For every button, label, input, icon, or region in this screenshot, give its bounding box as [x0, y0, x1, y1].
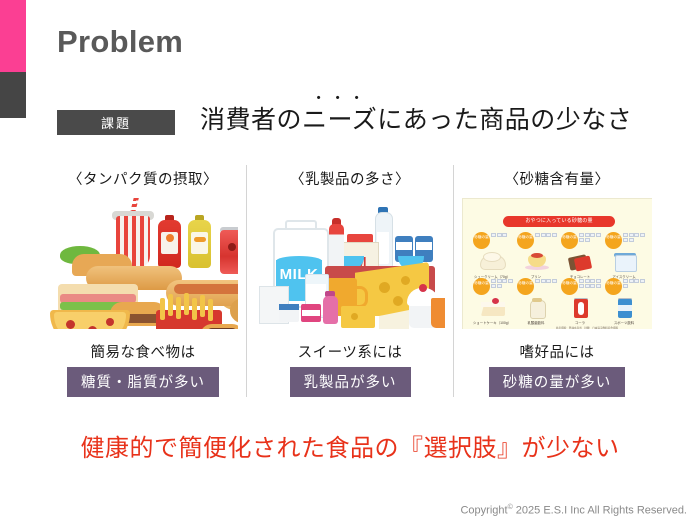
- dairy-illustration: M MILK: [255, 198, 445, 329]
- poster-item: 砂糖の量 ショートケーキ（100g）: [470, 278, 514, 324]
- caption-badge: 乳製品が多い: [290, 367, 411, 397]
- food-icon-shortcake: [478, 297, 506, 319]
- footer-prefix: Copyright: [460, 505, 507, 517]
- column-header: 〈乳製品の多さ〉: [290, 168, 410, 189]
- subtitle-suffix: にあった商品の少なさ: [377, 106, 632, 134]
- item-label: スポーツ飲料: [602, 321, 646, 325]
- sugar-amount-badge: 砂糖の量: [517, 278, 534, 295]
- sugar-amount-badge: 砂糖の量: [605, 232, 622, 249]
- sugar-cubes: [491, 279, 513, 294]
- sugar-cubes: [623, 279, 645, 294]
- poster-item: 砂糖の量 アイスクリーム: [602, 232, 646, 278]
- column-sugar: 〈砂糖含有量〉 おやつに入っている砂糖の量 砂糖の量 シュークリーム（70g）: [454, 162, 660, 397]
- column-header: 〈タンパク質の摂取〉: [68, 168, 218, 189]
- sugar-amount-badge: 砂糖の量: [561, 278, 578, 295]
- conclusion-statement: 健康的で簡便化された食品の『選択肢』が少ない: [0, 428, 700, 463]
- poster-item-grid: 砂糖の量 シュークリーム（70g） 砂糖の量: [470, 232, 646, 324]
- poster-item: 砂糖の量 スポーツ飲料: [602, 278, 646, 324]
- fast-food-illustration: [48, 198, 238, 329]
- food-icon-cream-puff: [478, 251, 506, 273]
- accent-bar-pink: [0, 0, 26, 72]
- subtitle-row: 課題 消費者のニーズにあった商品の少なさ: [57, 100, 632, 136]
- caption-line: 簡易な食べ物は: [91, 341, 196, 362]
- sugar-cubes: [535, 233, 557, 248]
- item-label: 乳酸菌飲料: [514, 321, 558, 325]
- sugar-amount-badge: 砂糖の量: [561, 232, 578, 249]
- food-icon-ice-cream: [610, 251, 638, 273]
- subtitle-emphasis: ニーズ: [302, 106, 377, 134]
- sugar-cubes: [535, 279, 557, 294]
- copyright-footer: Copyright© 2025 E.S.I Inc All Rights Res…: [460, 504, 687, 517]
- sugar-amount-badge: 砂糖の量: [473, 278, 490, 295]
- tag-badge: 課題: [57, 110, 175, 135]
- poster-item: 砂糖の量 シュークリーム（70g）: [470, 232, 514, 278]
- accent-bar-gray: [0, 72, 26, 118]
- column-protein: 〈タンパク質の摂取〉: [40, 162, 246, 397]
- column-dairy: 〈乳製品の多さ〉 M MILK: [247, 162, 453, 397]
- poster-item: 砂糖の量 乳酸菌飲料: [514, 278, 558, 324]
- poster-item: 砂糖の量 コーラ: [558, 278, 602, 324]
- food-icon-yogurt-drink: [522, 297, 550, 319]
- subtitle-prefix: 消費者の: [200, 106, 302, 134]
- food-icon-cola-can: [566, 297, 594, 319]
- food-icon-pudding: [522, 251, 550, 273]
- footer-rest: 2025 E.S.I Inc All Rights Reserved.: [513, 505, 687, 517]
- poster-item: 砂糖の量 チョコレート: [558, 232, 602, 278]
- page-title: Problem: [57, 24, 183, 60]
- caption-line: スイーツ系には: [298, 341, 403, 362]
- poster-source-note: 参考資料：農林水産省 砂糖 日本清涼飲料協会資料: [523, 326, 651, 329]
- sugar-cubes: [623, 233, 645, 248]
- sugar-amount-badge: 砂糖の量: [517, 232, 534, 249]
- caption-line: 嗜好品には: [520, 341, 595, 362]
- food-icon-chocolate: [566, 251, 594, 273]
- poster-item: 砂糖の量 プリン: [514, 232, 558, 278]
- comparison-columns: 〈タンパク質の摂取〉: [40, 162, 660, 397]
- caption-badge: 糖質・脂質が多い: [67, 367, 219, 397]
- sugar-poster-illustration: おやつに入っている砂糖の量 砂糖の量 シュークリーム（70g） 砂糖の量: [462, 198, 652, 329]
- caption-badge: 砂糖の量が多い: [489, 367, 626, 397]
- column-header: 〈砂糖含有量〉: [505, 168, 610, 189]
- sugar-cubes: [579, 233, 601, 248]
- item-label: コーラ: [558, 321, 602, 325]
- sugar-amount-badge: 砂糖の量: [605, 278, 622, 295]
- item-label: ショートケーキ（100g）: [470, 321, 514, 325]
- subtitle-text: 消費者のニーズにあった商品の少なさ: [200, 100, 632, 136]
- sugar-amount-badge: 砂糖の量: [473, 232, 490, 249]
- food-icon-sports-drink: [610, 297, 638, 319]
- sugar-cubes: [491, 233, 513, 248]
- poster-banner: おやつに入っている砂糖の量: [503, 216, 615, 227]
- sugar-cubes: [579, 279, 601, 294]
- sugar-poster: おやつに入っている砂糖の量 砂糖の量 シュークリーム（70g） 砂糖の量: [462, 198, 652, 329]
